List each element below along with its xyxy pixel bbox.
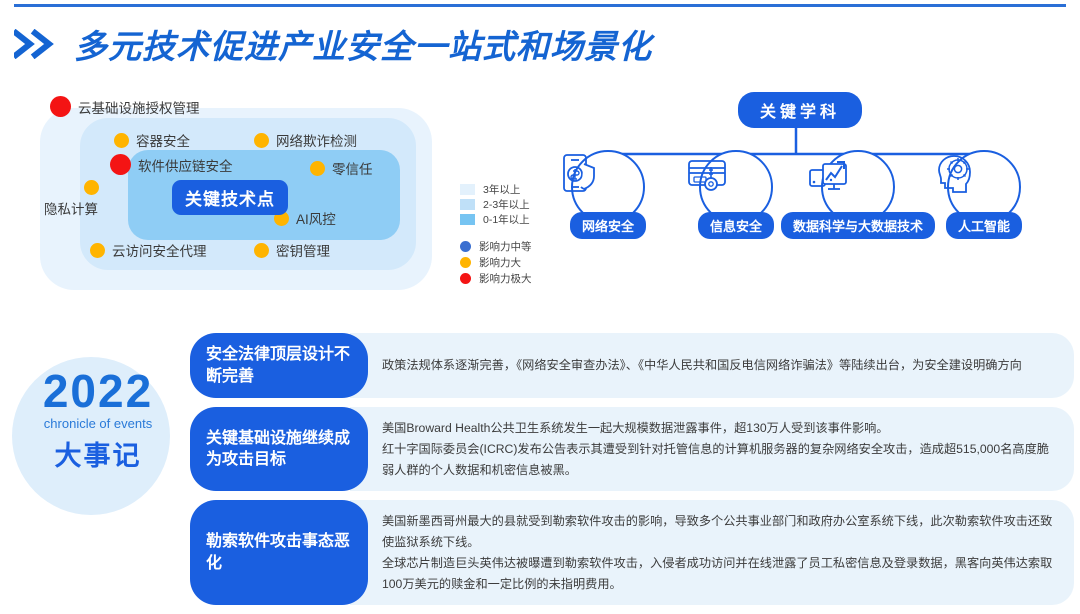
cluster-node-label: AI风控 <box>296 208 336 228</box>
cluster-node-label: 云访问安全代理 <box>112 240 207 260</box>
cluster-node-key-management[interactable]: 密钥管理 <box>254 240 330 260</box>
legend-label: 0-1年以上 <box>483 212 530 227</box>
page-header: 多元技术促进产业安全一站式和场景化 <box>14 20 652 68</box>
tree-leaf-network-security[interactable]: 网络安全 <box>556 150 660 224</box>
impact-dot-orange <box>90 243 105 258</box>
top-divider <box>14 4 1066 7</box>
legend-label: 影响力中等 <box>479 239 532 254</box>
legend-label: 影响力大 <box>479 255 521 270</box>
chronicle-event-row: 关键基础设施继续成为攻击目标 美国Broward Health公共卫生系统发生一… <box>190 407 1074 491</box>
impact-dot-orange <box>254 243 269 258</box>
impact-dot-orange <box>254 133 269 148</box>
event-line: 美国Broward Health公共卫生系统发生一起大规模数据泄露事件，超130… <box>382 418 1054 439</box>
key-technology-cluster: 云基础设施授权管理 容器安全 网络欺诈检测 软件供应链安全 零信任 隐私计算 A… <box>22 88 442 300</box>
legend-item-time: 0-1年以上 <box>460 212 532 226</box>
tree-leaf-label: 人工智能 <box>946 212 1022 239</box>
cluster-node-supply-chain[interactable]: 软件供应链安全 <box>110 154 233 175</box>
cluster-node-label: 网络欺诈检测 <box>276 130 357 150</box>
legend-dot-medium <box>460 241 471 252</box>
cluster-node-zero-trust[interactable]: 零信任 <box>310 158 373 178</box>
impact-dot-red <box>50 96 71 117</box>
event-title-pill[interactable]: 关键基础设施继续成为攻击目标 <box>190 407 368 491</box>
legend-swatch <box>460 199 475 210</box>
cluster-node-label: 密钥管理 <box>276 240 330 260</box>
legend: 3年以上 2-3年以上 0-1年以上 影响力中等 影响力大 影响力极大 <box>460 182 532 287</box>
impact-dot-orange <box>84 180 99 195</box>
key-disciplines-tree: 关键学科 网络安全 信息安全 <box>556 92 1076 292</box>
legend-item-impact: 影响力大 <box>460 255 532 270</box>
cluster-node-label: 隐私计算 <box>44 198 98 218</box>
event-title-pill[interactable]: 安全法律顶层设计不断完善 <box>190 333 368 398</box>
event-line: 全球芯片制造巨头英伟达被曝遭到勒索软件攻击，入侵者成功访问并在线泄露了员工私密信… <box>382 553 1054 594</box>
chronicle-event-list: 安全法律顶层设计不断完善 政策法规体系逐渐完善，《网络安全审查办法》、《中华人民… <box>190 333 1074 614</box>
cluster-center-badge: 关键技术点 <box>172 180 288 215</box>
tree-leaf-label: 信息安全 <box>698 212 774 239</box>
event-title-pill[interactable]: 勒索软件攻击事态恶化 <box>190 500 368 605</box>
legend-swatch <box>460 184 475 195</box>
tree-leaf-data-science[interactable]: 数据科学与大数据技术 <box>806 150 910 224</box>
legend-item-impact: 影响力中等 <box>460 239 532 254</box>
legend-label: 3年以上 <box>483 182 520 197</box>
event-body: 美国新墨西哥州最大的县就受到勒索软件攻击的影响，导致多个公共事业部门和政府办公室… <box>350 500 1074 605</box>
cluster-node-label: 云基础设施授权管理 <box>78 97 200 117</box>
cluster-node-fraud-detection[interactable]: 网络欺诈检测 <box>254 130 357 150</box>
event-line: 红十字国际委员会(ICRC)发布公告表示其遭受到针对托管信息的计算机服务器的复杂… <box>382 439 1054 480</box>
legend-dot-high <box>460 257 471 268</box>
legend-item-time: 3年以上 <box>460 182 532 196</box>
cluster-node-label: 容器安全 <box>136 130 190 150</box>
cluster-node-container-security[interactable]: 容器安全 <box>114 130 190 150</box>
cluster-node-label: 软件供应链安全 <box>138 155 233 175</box>
double-chevron-right-icon <box>14 29 60 59</box>
cluster-node-privacy-compute[interactable]: 隐私计算 <box>74 180 99 218</box>
legend-item-impact: 影响力极大 <box>460 271 532 286</box>
event-body: 政策法规体系逐渐完善，《网络安全审查办法》、《中华人民共和国反电信网络诈骗法》等… <box>350 333 1074 398</box>
chronicle-year: 2022 <box>14 368 182 414</box>
chronicle-subtitle: chronicle of events <box>14 416 182 431</box>
cluster-node-casb[interactable]: 云访问安全代理 <box>90 240 207 260</box>
event-line: 美国新墨西哥州最大的县就受到勒索软件攻击的影响，导致多个公共事业部门和政府办公室… <box>382 511 1054 552</box>
event-body: 美国Broward Health公共卫生系统发生一起大规模数据泄露事件，超130… <box>350 407 1074 491</box>
impact-dot-red <box>110 154 131 175</box>
legend-label: 2-3年以上 <box>483 197 530 212</box>
tree-leaf-ai[interactable]: 人工智能 <box>932 150 1036 224</box>
impact-dot-orange <box>310 161 325 176</box>
chronicle-event-row: 勒索软件攻击事态恶化 美国新墨西哥州最大的县就受到勒索软件攻击的影响，导致多个公… <box>190 500 1074 605</box>
chronicle-event-row: 安全法律顶层设计不断完善 政策法规体系逐渐完善，《网络安全审查办法》、《中华人民… <box>190 333 1074 398</box>
event-line: 政策法规体系逐渐完善，《网络安全审查办法》、《中华人民共和国反电信网络诈骗法》等… <box>382 355 1054 376</box>
legend-item-time: 2-3年以上 <box>460 197 532 211</box>
tree-leaf-information-security[interactable]: 信息安全 <box>684 150 788 224</box>
cluster-node-label: 零信任 <box>332 158 373 178</box>
chronicle-year-block: 2022 chronicle of events 大事记 <box>14 368 182 473</box>
legend-label: 影响力极大 <box>479 271 532 286</box>
tree-leaf-label: 数据科学与大数据技术 <box>781 212 935 239</box>
legend-dot-extreme <box>460 273 471 284</box>
legend-swatch <box>460 214 475 225</box>
tree-leaf-label: 网络安全 <box>570 212 646 239</box>
impact-dot-orange <box>114 133 129 148</box>
cluster-node-cloud-infra[interactable]: 云基础设施授权管理 <box>50 96 200 117</box>
page-title: 多元技术促进产业安全一站式和场景化 <box>74 20 652 68</box>
tree-root-node[interactable]: 关键学科 <box>738 92 862 128</box>
chronicle-cn-label: 大事记 <box>14 434 182 473</box>
